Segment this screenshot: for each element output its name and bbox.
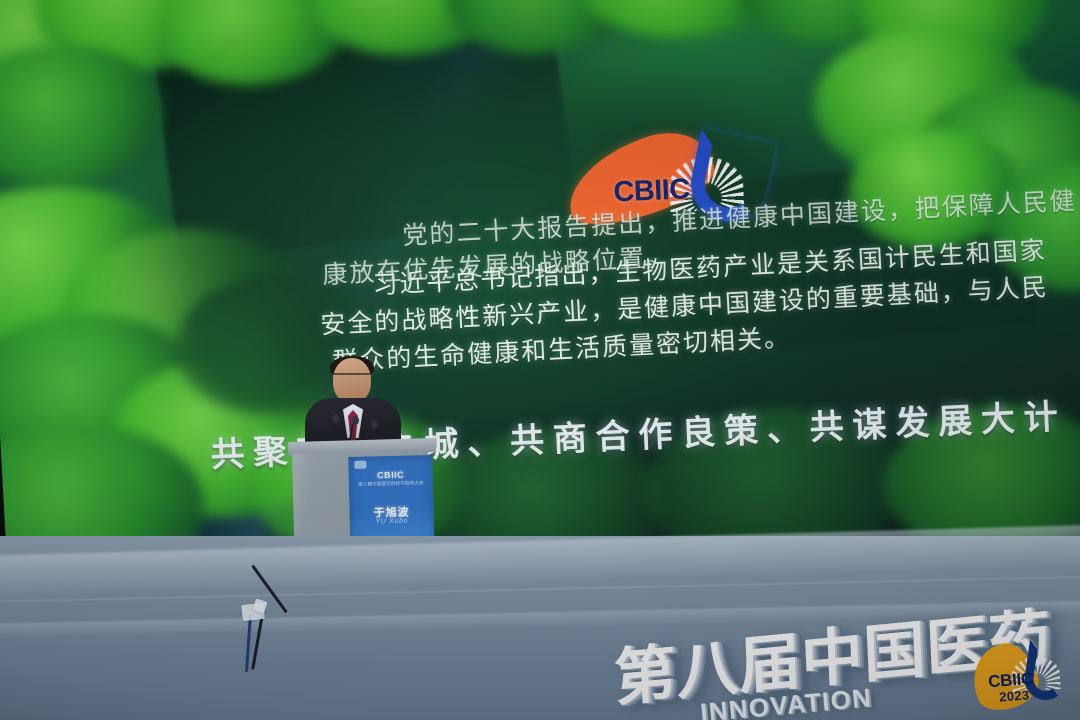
cbiic-logo-on-floor: CBIIC 2023 (970, 637, 1071, 718)
conference-stage-photo: CBIIC 党的二十大报告提出，推进健康中国建设，把保障人民健 康放在优先发展的… (0, 0, 1080, 720)
microphone-head (352, 416, 359, 425)
podium-logo-wordmark: CBIIC (349, 469, 433, 481)
microphone-head (332, 414, 339, 423)
podium-event-subtitle: 第八届中国医药创新与投资大会 (349, 480, 433, 488)
floor-logo-year: 2023 (999, 687, 1030, 704)
logo-wordmark: CBIIC (613, 173, 690, 209)
glasses-icon (334, 373, 370, 383)
podium-corner-logo-icon (354, 461, 366, 469)
cbiic-logo-on-screen: CBIIC (563, 132, 781, 225)
podium-speaker-name-en: YU Xubo (350, 517, 434, 526)
microphone-head (371, 420, 378, 429)
